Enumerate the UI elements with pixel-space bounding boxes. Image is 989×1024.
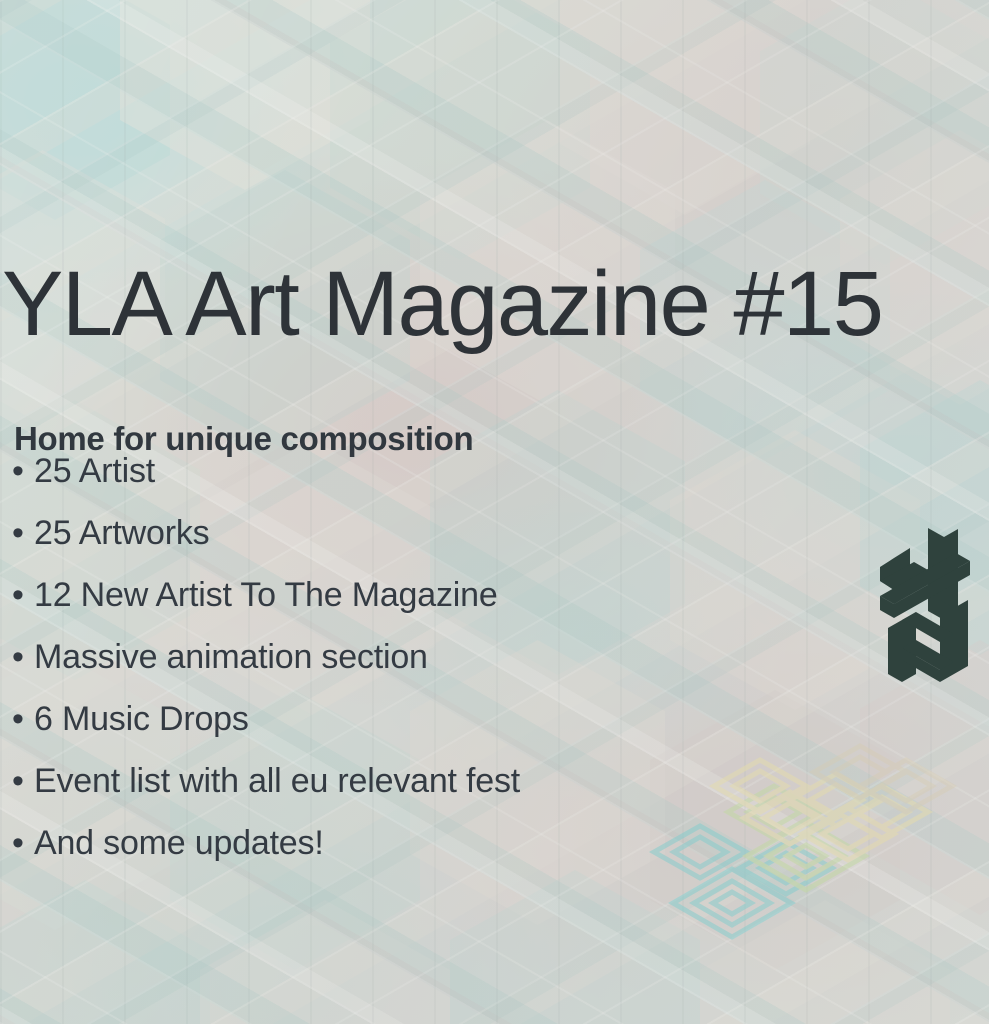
- bullet-icon: •: [12, 824, 34, 863]
- yla-monogram-logo: YLA: [866, 524, 980, 690]
- list-item-label: And some updates!: [34, 824, 324, 863]
- list-item-label: Massive animation section: [34, 638, 428, 677]
- poster-content: YLA Art Magazine #15 Home for unique com…: [0, 0, 989, 1024]
- list-item-label: 25 Artist: [34, 452, 155, 491]
- bullet-icon: •: [12, 576, 34, 615]
- list-item: • 25 Artworks: [12, 514, 520, 576]
- list-item: • 12 New Artist To The Magazine: [12, 576, 520, 638]
- bullet-icon: •: [12, 514, 34, 553]
- page-title: YLA Art Magazine #15: [2, 258, 882, 350]
- list-item-label: Event list with all eu relevant fest: [34, 762, 520, 801]
- poster-canvas: YLA Art Magazine #15 Home for unique com…: [0, 0, 989, 1024]
- bullet-icon: •: [12, 638, 34, 677]
- bullet-icon: •: [12, 452, 34, 491]
- list-item-label: 12 New Artist To The Magazine: [34, 576, 498, 615]
- list-item-label: 25 Artworks: [34, 514, 209, 553]
- list-item: • Massive animation section: [12, 638, 520, 700]
- list-item: • 6 Music Drops: [12, 700, 520, 762]
- list-item-label: 6 Music Drops: [34, 700, 249, 739]
- list-item: • 25 Artist: [12, 452, 520, 514]
- bullet-icon: •: [12, 700, 34, 739]
- list-item: • And some updates!: [12, 824, 520, 886]
- feature-list: • 25 Artist • 25 Artworks • 12 New Artis…: [12, 452, 520, 886]
- list-item: • Event list with all eu relevant fest: [12, 762, 520, 824]
- bullet-icon: •: [12, 762, 34, 801]
